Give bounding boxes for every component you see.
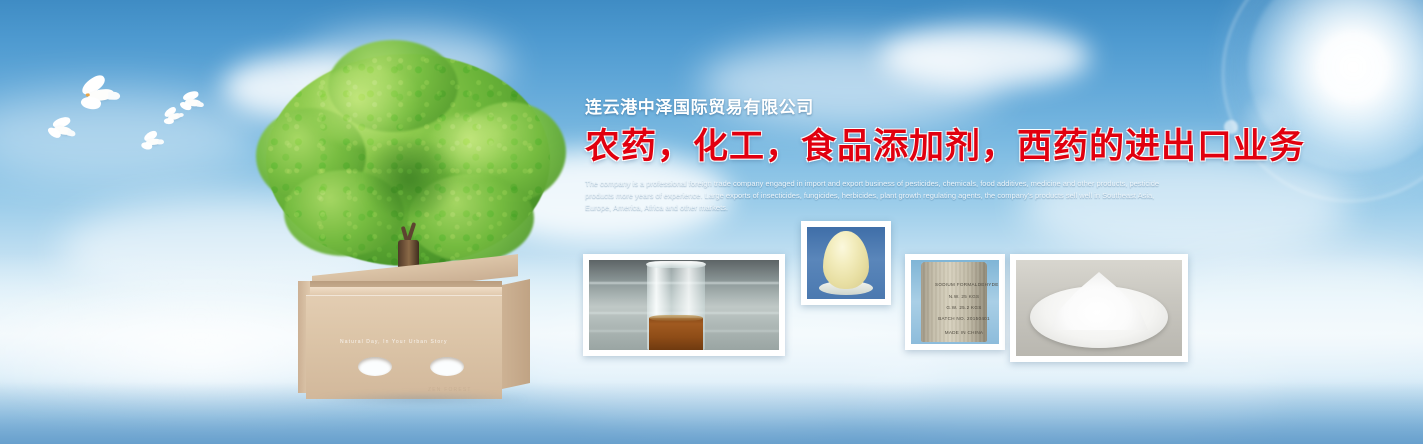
dove-icon [74, 75, 123, 117]
banner-text-block: 连云港中泽国际贸易有限公司 农药，化工，食品添加剂，西药的进出口业务 The c… [585, 98, 1185, 214]
tree-in-box-illustration: Natural Day, In Your Urban Story ZEN FOR… [258, 44, 558, 394]
bag-label-line: N.W. 25 KGS [935, 294, 993, 299]
description-paragraph: The company is a professional foreign tr… [585, 178, 1179, 214]
lens-flare-ring-icon [1222, 0, 1423, 202]
woven-bag-image: SODIUM FORMALDEHYDE N.W. 25 KGS G.W. 25.… [911, 260, 999, 344]
box-drop-shadow [316, 393, 528, 405]
sun-halo-icon [1205, 0, 1423, 215]
company-name: 连云港中泽国际贸易有限公司 [585, 98, 1185, 118]
dove-icon [160, 106, 186, 129]
cardboard-box: Natural Day, In Your Urban Story ZEN FOR… [298, 259, 530, 399]
promo-banner: Natural Day, In Your Urban Story ZEN FOR… [0, 0, 1423, 444]
product-thumbnail-yellow-powder[interactable] [801, 221, 891, 305]
box-front-panel: Natural Day, In Your Urban Story ZEN FOR… [306, 295, 502, 399]
yellow-powder-image [807, 227, 885, 299]
white-powder-image [1016, 260, 1182, 356]
box-handle-hole [430, 357, 464, 376]
dove-icon [139, 131, 164, 153]
product-thumbnail-brown-liquid-vial[interactable] [583, 254, 785, 356]
box-handle-hole [358, 357, 392, 376]
product-thumbnail-woven-bag[interactable]: SODIUM FORMALDEHYDE N.W. 25 KGS G.W. 25.… [905, 254, 1005, 350]
cloud-icon [0, 90, 260, 180]
headline: 农药，化工，食品添加剂，西药的进出口业务 [585, 127, 1185, 166]
box-slogan: Natural Day, In Your Urban Story [340, 339, 490, 345]
bag-label-line: BATCH NO. 20150401 [935, 316, 993, 321]
bag-label-line: G.W. 25.2 KGS [935, 305, 993, 310]
cloud-icon [1150, 250, 1423, 370]
cloud-icon [880, 26, 1090, 88]
brown-liquid-vial-image [589, 260, 779, 350]
bag-label-line: SODIUM FORMALDEHYDE [935, 282, 993, 287]
product-thumbnail-white-powder[interactable] [1010, 254, 1188, 362]
box-side-panel [502, 279, 530, 389]
horizon-band [0, 382, 1423, 444]
dove-icon [44, 115, 78, 145]
bag-body: SODIUM FORMALDEHYDE N.W. 25 KGS G.W. 25.… [921, 262, 987, 342]
bag-label-line: MADE IN CHINA [935, 330, 993, 335]
